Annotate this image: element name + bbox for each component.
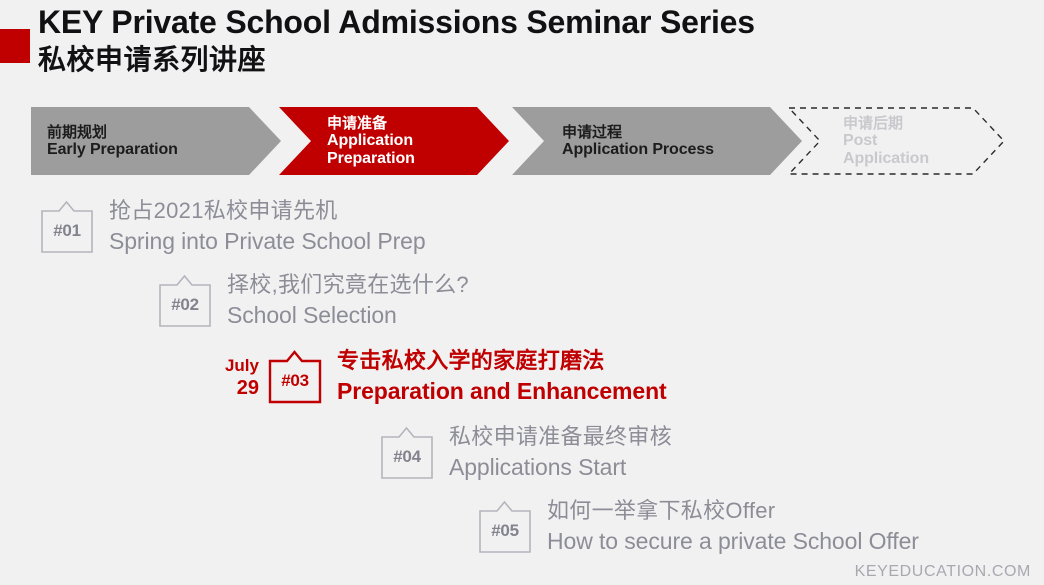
list-item-highlighted[interactable]: July 29 #03 专击私校入学的家庭打磨法 Preparation and… [205, 346, 667, 407]
footer-brand: KEYEDUCATION.COM [855, 563, 1031, 581]
session-title-cn: 私校申请准备最终审核 [449, 422, 672, 452]
list-item[interactable]: #05 如何一举拿下私校Offer How to secure a privat… [478, 496, 919, 557]
list-item[interactable]: #04 私校申请准备最终审核 Applications Start [380, 422, 672, 483]
session-title-en: Preparation and Enhancement [337, 376, 667, 407]
session-title-en: Spring into Private School Prep [109, 226, 426, 257]
session-badge: #04 [380, 426, 434, 480]
step-label-cn: 申请后期 [843, 115, 1005, 132]
session-number: #03 [268, 350, 322, 404]
session-title-cn: 择校,我们究竟在选什么? [227, 270, 469, 300]
session-texts: 择校,我们究竟在选什么? School Selection [227, 270, 469, 331]
step-label-en-line2: Application [843, 150, 1005, 168]
session-texts: 抢占2021私校申请先机 Spring into Private School … [109, 196, 426, 257]
step-label-en: Application Process [562, 141, 802, 159]
step-label-en: Early Preparation [47, 141, 281, 159]
step-label-cn: 前期规划 [47, 124, 281, 141]
session-date-month: July [205, 355, 259, 377]
step-label-cn: 申请过程 [562, 124, 802, 141]
list-item[interactable]: #01 抢占2021私校申请先机 Spring into Private Sch… [40, 196, 426, 257]
process-step-application-preparation[interactable]: 申请准备 Application Preparation [279, 107, 509, 175]
accent-block [0, 29, 30, 63]
session-texts: 如何一举拿下私校Offer How to secure a private Sc… [547, 496, 919, 557]
session-badge: #02 [158, 274, 212, 328]
list-item[interactable]: #02 择校,我们究竟在选什么? School Selection [158, 270, 469, 331]
session-title-cn: 专击私校入学的家庭打磨法 [337, 346, 667, 376]
session-title-cn: 抢占2021私校申请先机 [109, 196, 426, 226]
session-texts: 私校申请准备最终审核 Applications Start [449, 422, 672, 483]
session-badge: #05 [478, 500, 532, 554]
page-title: KEY Private School Admissions Seminar Se… [38, 2, 998, 78]
step-label-en-line1: Application [327, 132, 509, 150]
step-label-en-line1: Post [843, 132, 1005, 150]
title-english: KEY Private School Admissions Seminar Se… [38, 2, 998, 42]
process-band: 前期规划 Early Preparation 申请准备 Application … [31, 107, 1011, 175]
session-title-en: School Selection [227, 300, 469, 331]
session-texts: 专击私校入学的家庭打磨法 Preparation and Enhancement [337, 346, 667, 407]
session-title-en: How to secure a private School Offer [547, 526, 919, 557]
step-label-en-line2: Preparation [327, 150, 509, 168]
session-date: July 29 [205, 355, 259, 399]
session-badge: #01 [40, 200, 94, 254]
session-title-en: Applications Start [449, 452, 672, 483]
process-step-post-application[interactable]: 申请后期 Post Application [789, 107, 1005, 175]
title-chinese: 私校申请系列讲座 [38, 42, 998, 78]
session-number: #04 [380, 426, 434, 480]
session-date-day: 29 [205, 377, 259, 399]
session-badge: #03 [268, 350, 322, 404]
session-number: #05 [478, 500, 532, 554]
session-title-cn: 如何一举拿下私校Offer [547, 496, 919, 526]
session-number: #02 [158, 274, 212, 328]
step-label-cn: 申请准备 [327, 115, 509, 132]
process-step-application-process[interactable]: 申请过程 Application Process [512, 107, 802, 175]
slide-canvas: KEY Private School Admissions Seminar Se… [0, 0, 1044, 585]
session-number: #01 [40, 200, 94, 254]
process-step-early-preparation[interactable]: 前期规划 Early Preparation [31, 107, 281, 175]
